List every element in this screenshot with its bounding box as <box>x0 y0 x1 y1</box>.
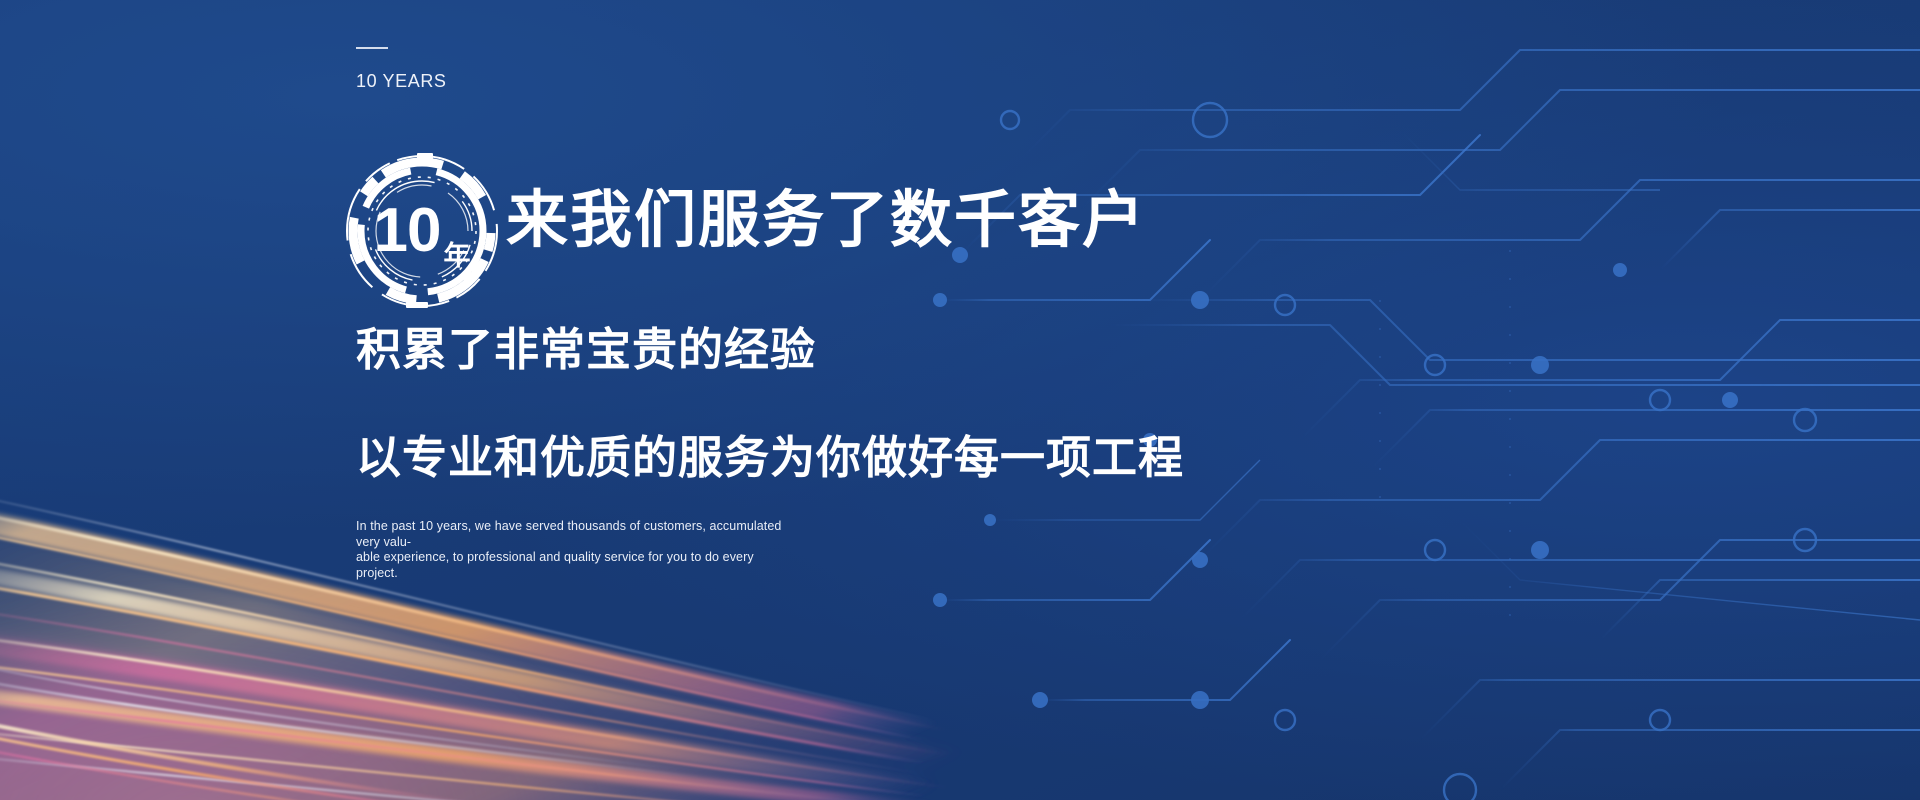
headline-primary: 来我们服务了数千客户 <box>506 189 1146 251</box>
badge-number: 10 <box>374 200 441 262</box>
description-line-1: In the past 10 years, we have served tho… <box>356 519 786 550</box>
eyebrow-rule <box>356 47 388 49</box>
hero-banner: 10 YEARS <box>0 0 1920 800</box>
badge-unit: 年 <box>443 243 470 270</box>
description-paragraph: In the past 10 years, we have served tho… <box>356 519 786 582</box>
eyebrow-label: 10 YEARS <box>356 71 447 92</box>
banner-content: 10 YEARS <box>0 0 1920 800</box>
description-line-2: able experience, to professional and qua… <box>356 550 786 581</box>
badge-number-group: 10年 <box>343 152 501 310</box>
headline-tertiary: 以专业和优质的服务为你做好每一项工程 <box>356 435 1184 480</box>
headline-secondary: 积累了非常宝贵的经验 <box>356 327 816 372</box>
years-badge: 10年 <box>343 152 501 310</box>
